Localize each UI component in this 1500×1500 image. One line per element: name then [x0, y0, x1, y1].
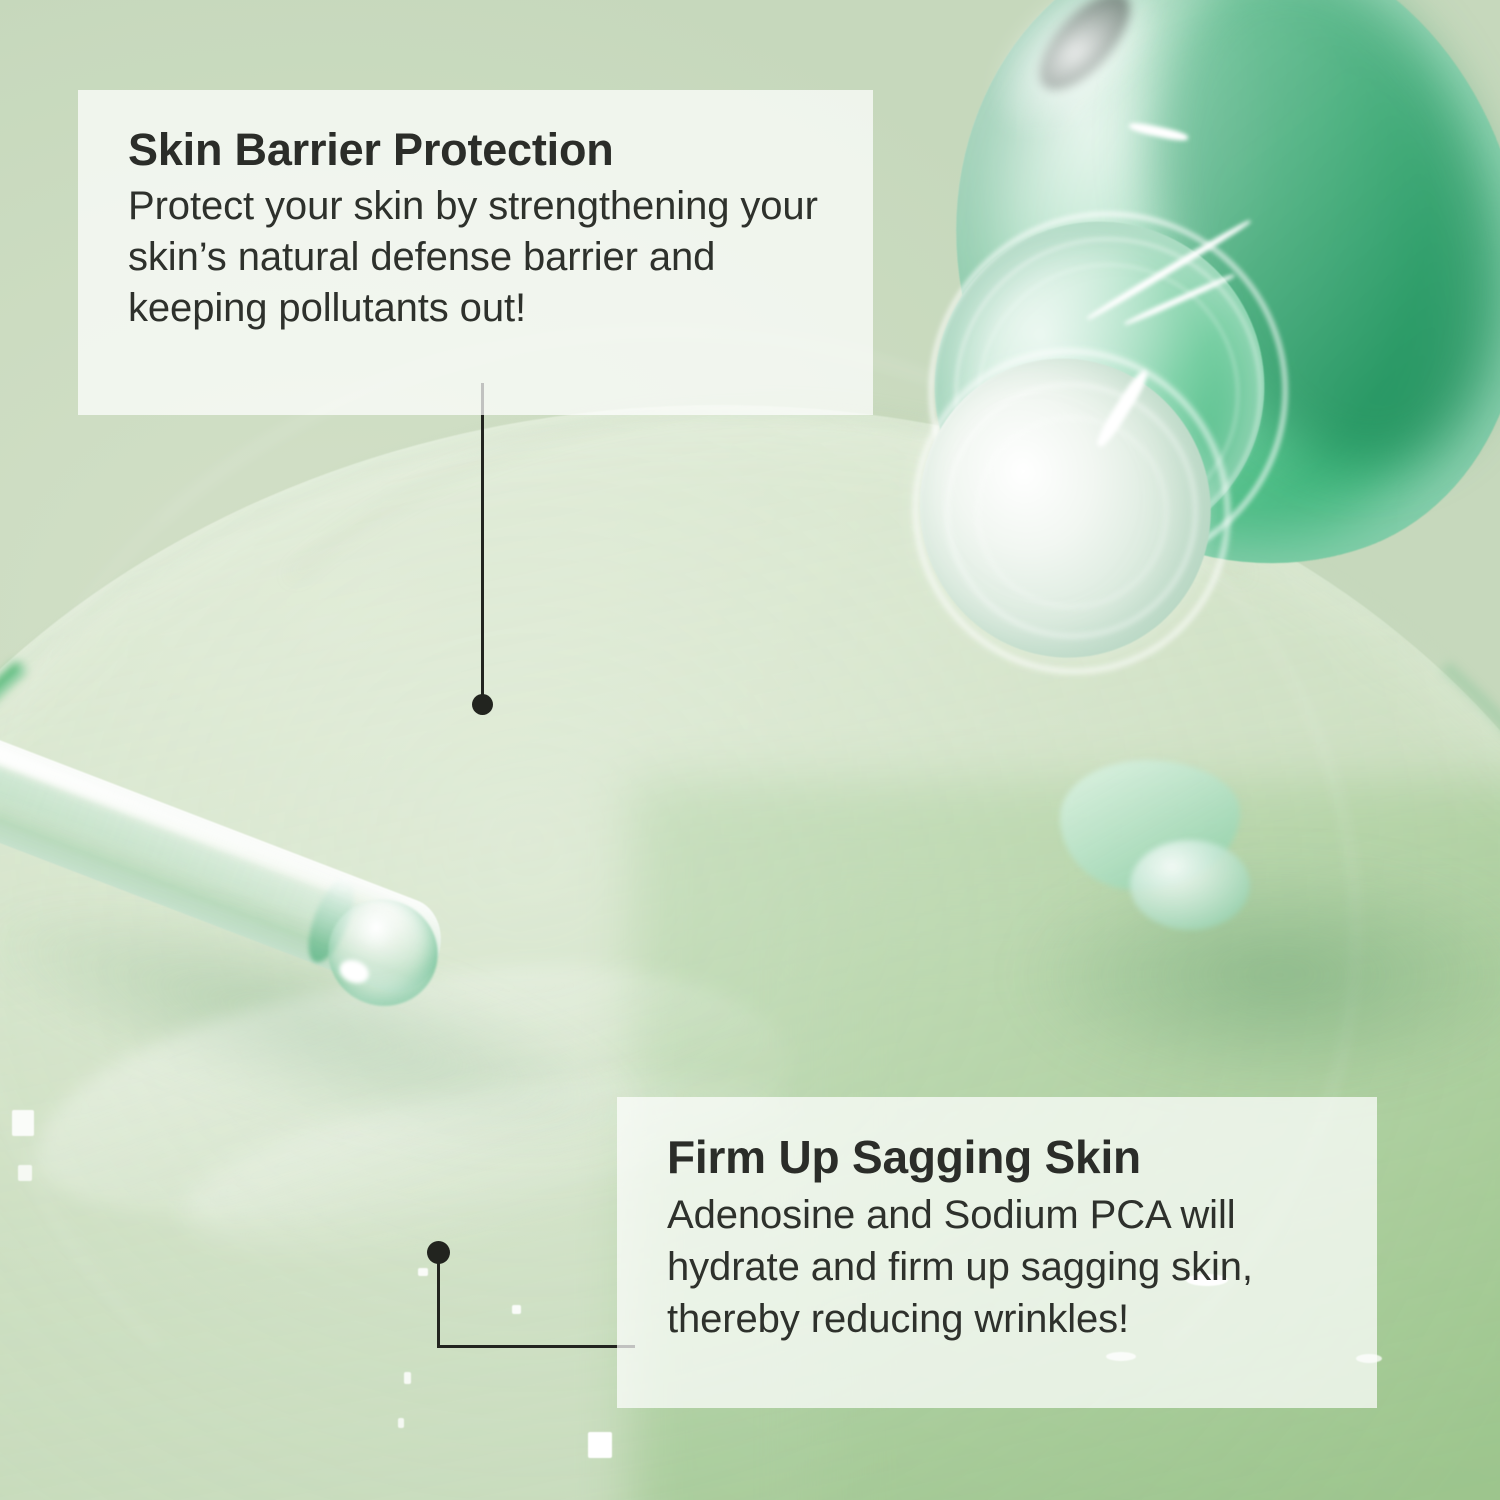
callout-skin-barrier-protection: Skin Barrier Protection Protect your ski… [78, 90, 873, 415]
callout-2-leader-line-vertical [437, 1258, 440, 1348]
callout-1-body: Protect your skin by strengthening your … [128, 181, 831, 335]
rim-sparkle-icon [398, 1418, 404, 1428]
rim-sparkle-icon [404, 1372, 411, 1384]
callout-2-leader-dot [427, 1241, 450, 1264]
rim-sparkle-icon [12, 1110, 34, 1136]
callout-2-body: Adenosine and Sodium PCA will hydrate an… [667, 1189, 1335, 1345]
rim-sparkle-icon [18, 1165, 32, 1181]
rim-sparkle-icon [588, 1432, 612, 1458]
callout-2-leader-line-horizontal [437, 1345, 635, 1348]
callout-firm-up-sagging-skin: Firm Up Sagging Skin Adenosine and Sodiu… [617, 1097, 1377, 1408]
callout-2-title: Firm Up Sagging Skin [667, 1133, 1335, 1183]
callout-1-title: Skin Barrier Protection [128, 126, 831, 175]
rim-sparkle-icon [512, 1305, 521, 1314]
rim-sparkle-icon [418, 1268, 428, 1276]
product-infographic: Skin Barrier Protection Protect your ski… [0, 0, 1500, 1500]
callout-1-leader-dot [472, 694, 493, 715]
callout-1-leader-line [481, 383, 484, 703]
serum-droplet [1130, 840, 1250, 930]
